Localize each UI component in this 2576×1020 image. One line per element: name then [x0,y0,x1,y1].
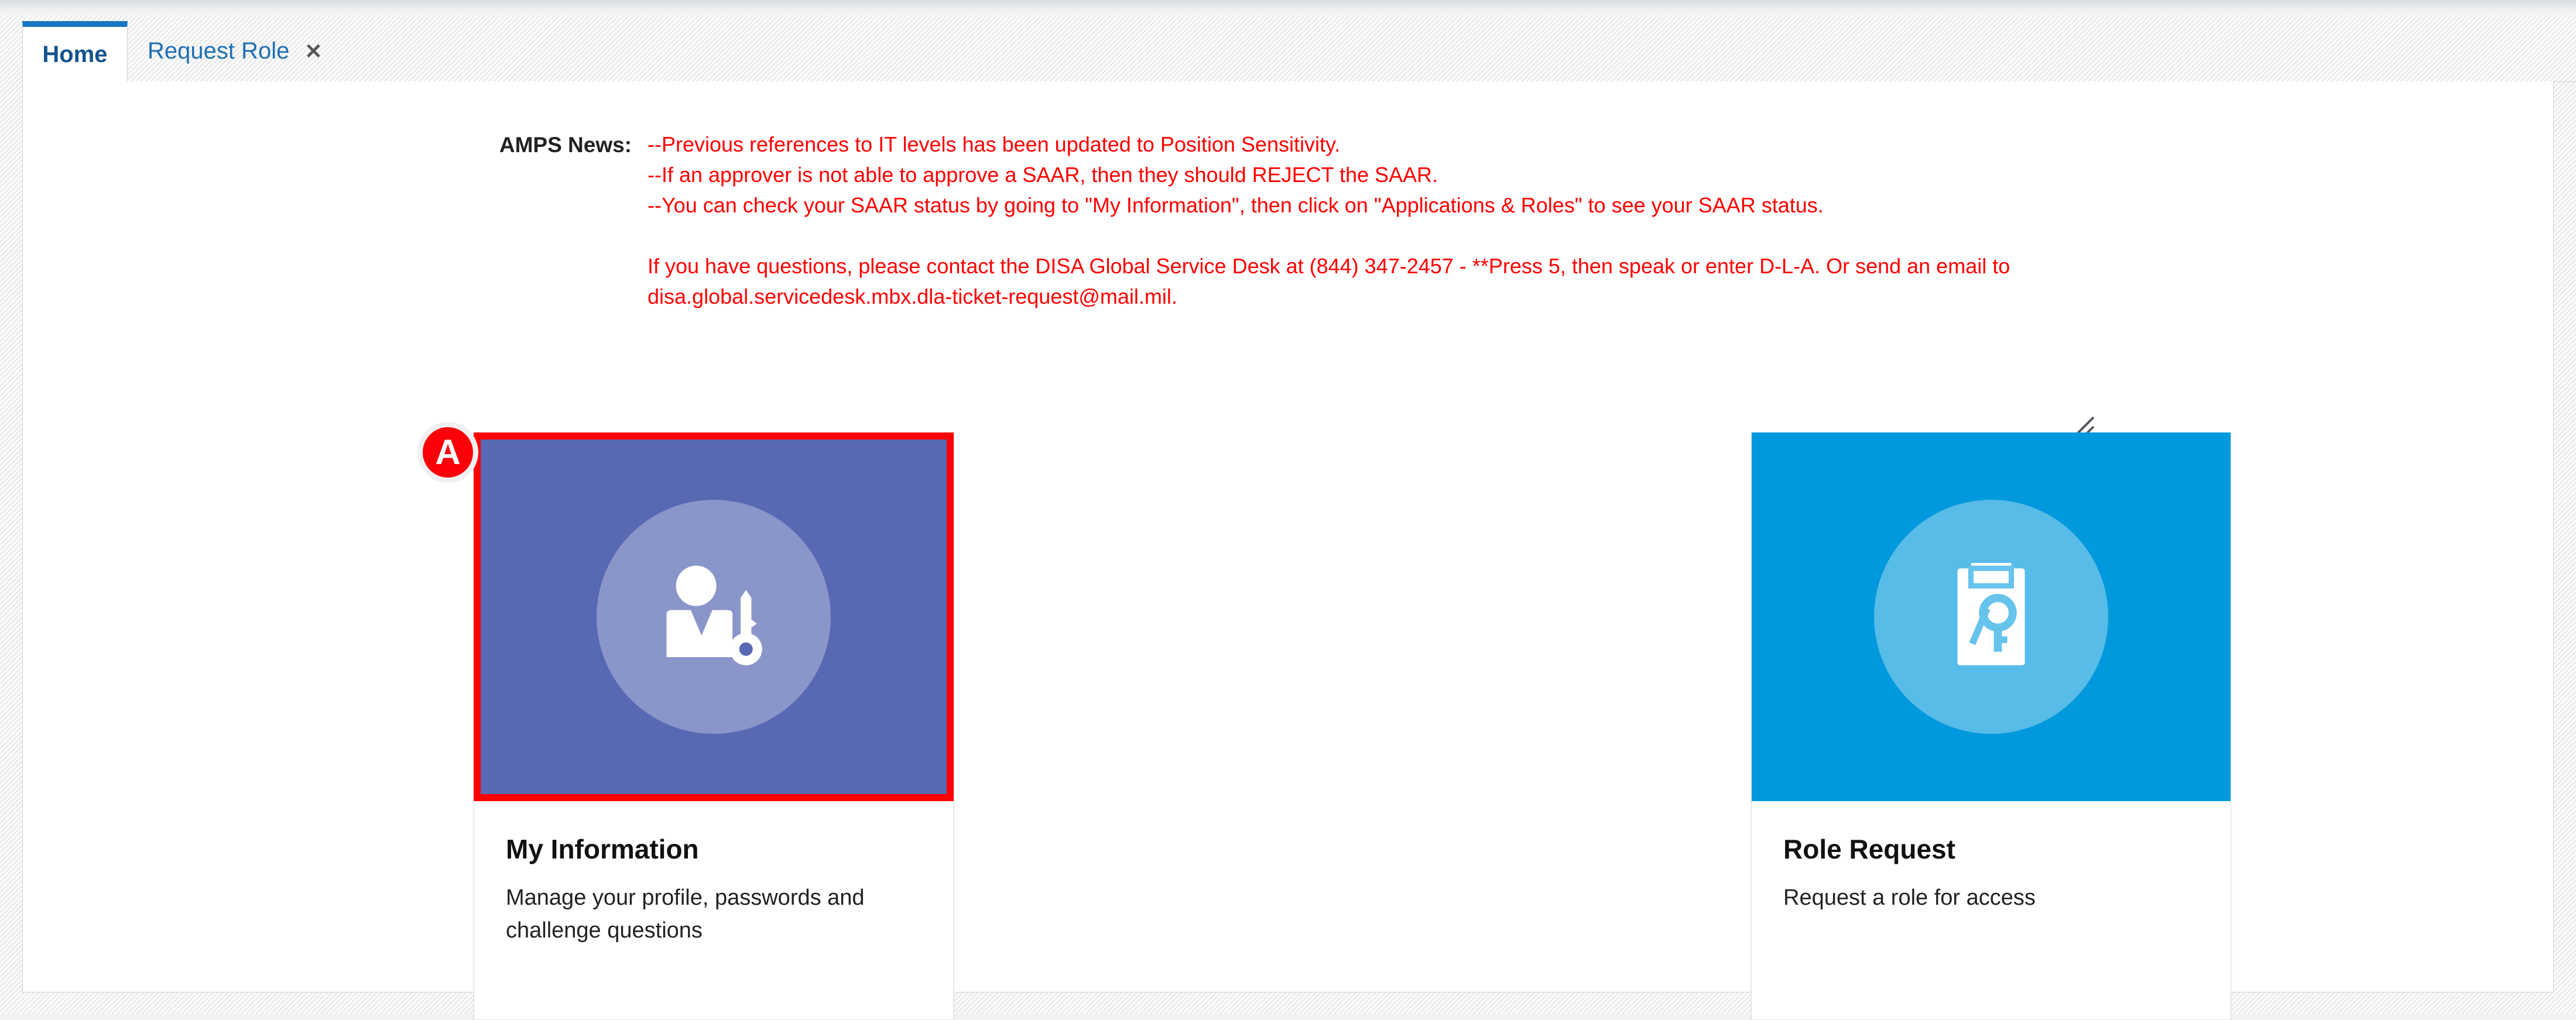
news-contact-line: If you have questions, please contact th… [648,251,2129,312]
tile-role-request-banner[interactable] [1752,432,2231,801]
tile-role-request-title: Role Request [1783,835,2199,864]
tab-request-role[interactable]: Request Role ✕ [145,21,325,82]
main-content-panel: AMPS News: --Previous references to IT l… [22,81,2554,992]
tile-role-request[interactable]: Role Request Request a role for access [1751,432,2231,1020]
amps-news-label: AMPS News: [474,133,632,157]
news-line: --Previous references to IT levels has b… [648,129,2129,160]
news-line: --If an approver is not able to approve … [648,160,2129,190]
clipboard-with-key-icon [1874,500,2108,734]
tile-role-request-description: Request a role for access [1783,881,2199,914]
tile-my-information-description: Manage your profile, passwords and chall… [506,881,922,947]
amps-news-body: --Previous references to IT levels has b… [648,129,2129,312]
tab-strip: Home Request Role ✕ [0,21,2576,82]
person-with-key-icon [597,500,831,734]
annotation-badge-a: A [417,422,478,483]
tab-home[interactable]: Home [22,21,128,82]
tile-my-information-banner[interactable] [474,432,953,801]
tab-request-role-label: Request Role [148,38,289,64]
tile-role-request-text: Role Request Request a role for access [1752,801,2231,914]
tile-my-information-title: My Information [506,835,922,864]
news-line: --You can check your SAAR status by goin… [648,190,2129,221]
close-icon[interactable]: ✕ [304,41,322,62]
browser-chrome-strip [0,0,2576,15]
tile-my-information[interactable]: My Information Manage your profile, pass… [474,432,954,1020]
tile-my-information-text: My Information Manage your profile, pass… [474,801,953,947]
tab-home-label: Home [42,42,107,68]
